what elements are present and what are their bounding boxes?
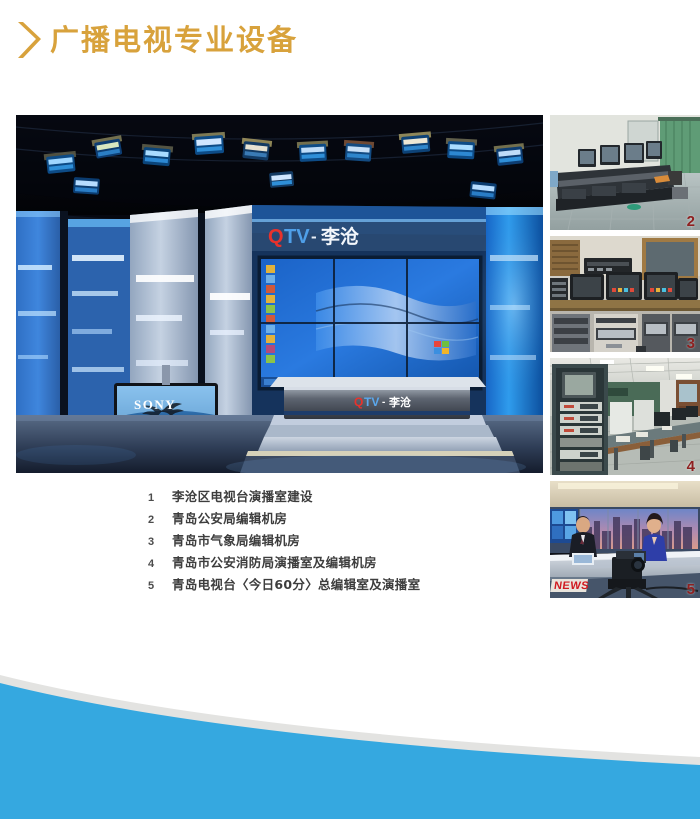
thumbnail-number: 5: [687, 582, 695, 597]
page-root: 广播电视专业设备: [0, 0, 700, 819]
svg-text:李沧: 李沧: [320, 225, 359, 248]
caption-number: 2: [148, 510, 172, 530]
caption-number: 1: [148, 488, 172, 508]
caption-text: 青岛市公安消防局演播室及编辑机房: [172, 553, 377, 573]
svg-text:TV: TV: [364, 395, 379, 409]
list-item: 3 青岛市气象局编辑机房: [148, 531, 528, 551]
list-item: 2 青岛公安局编辑机房: [148, 509, 528, 529]
caption-text: 青岛公安局编辑机房: [172, 509, 287, 529]
list-item: 4 青岛市公安消防局演播室及编辑机房: [148, 553, 528, 573]
caption-list: 1 李沧区电视台演播室建设 2 青岛公安局编辑机房 3 青岛市气象局编辑机房 4…: [148, 487, 528, 597]
caption-text: 李沧区电视台演播室建设: [172, 487, 313, 507]
page-header: 广播电视专业设备: [0, 0, 700, 80]
chevron-right-icon: [14, 18, 42, 62]
bottom-wave-decoration: [0, 629, 700, 819]
thumbnail-number: 2: [687, 214, 695, 229]
thumbnail-number: 4: [687, 459, 695, 474]
list-item: 5 青岛电视台〈今日60分〉总编辑室及演播室: [148, 575, 528, 595]
caption-number: 4: [148, 554, 172, 574]
svg-text:TV: TV: [284, 226, 310, 248]
svg-text:-: -: [311, 227, 317, 246]
caption-number: 5: [148, 576, 172, 596]
svg-text:Q: Q: [354, 395, 363, 409]
svg-text:李沧: 李沧: [388, 395, 411, 409]
thumbnail-editing-room-police[interactable]: 2: [550, 115, 700, 230]
news-overlay-text: NEWS: [553, 580, 590, 592]
thumbnail-news-studio[interactable]: NEWS 5: [550, 481, 700, 598]
thumbnail-fire-bureau-studio[interactable]: 4: [550, 358, 700, 475]
caption-text: 青岛市气象局编辑机房: [172, 531, 300, 551]
caption-text: 青岛电视台〈今日60分〉总编辑室及演播室: [172, 575, 420, 595]
page-title: 广播电视专业设备: [50, 26, 298, 55]
svg-text:SONY: SONY: [134, 397, 176, 412]
list-item: 1 李沧区电视台演播室建设: [148, 487, 528, 507]
thumbnail-number: 3: [687, 336, 695, 351]
svg-text:-: -: [382, 397, 385, 408]
broadcast-studio-photo: Q TV - 李沧: [16, 115, 543, 473]
svg-text:Q: Q: [268, 226, 284, 248]
thumbnail-editing-room-meteorology[interactable]: 3: [550, 236, 700, 352]
caption-number: 3: [148, 532, 172, 552]
